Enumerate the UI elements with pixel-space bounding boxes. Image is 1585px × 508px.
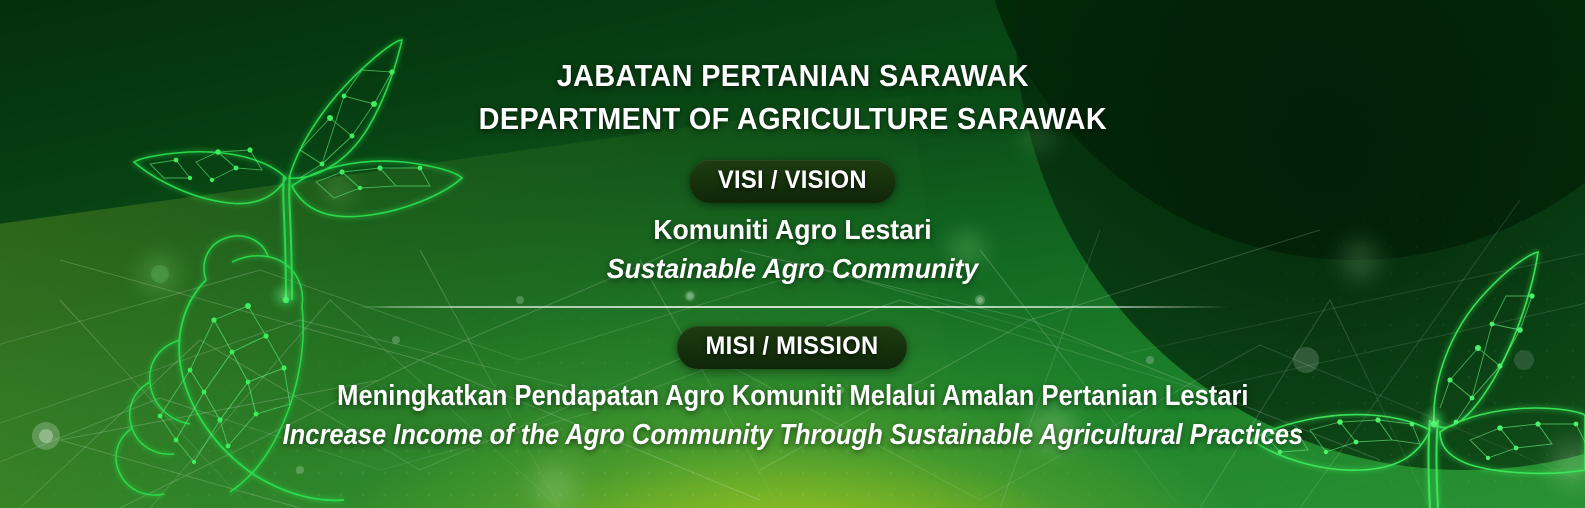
mission-badge-wrapper: MISI / MISSION [213,326,1373,369]
mission-text-en: Increase Income of the Agro Community Th… [282,418,1303,453]
vision-mission-banner: JABATAN PERTANIAN SARAWAK DEPARTMENT OF … [0,0,1585,508]
vision-text-bm: Komuniti Agro Lestari [607,213,978,247]
vision-badge-wrapper: VISI / VISION [597,160,988,203]
organisation-name-en: DEPARTMENT OF AGRICULTURE SARAWAK [478,97,1106,140]
mission-badge: MISI / MISSION [678,326,908,369]
organisation-title: JABATAN PERTANIAN SARAWAK DEPARTMENT OF … [478,54,1106,140]
mission-text-bm: Meningkatkan Pendapatan Agro Komuniti Me… [282,379,1303,414]
vision-text-en: Sustainable Agro Community [607,252,978,286]
vision-badge: VISI / VISION [690,160,896,203]
vision-block: VISI / VISION Komuniti Agro Lestari Sust… [597,140,988,286]
organisation-name-bm: JABATAN PERTANIAN SARAWAK [478,54,1106,97]
mission-block: MISI / MISSION Meningkatkan Pendapatan A… [213,308,1373,453]
